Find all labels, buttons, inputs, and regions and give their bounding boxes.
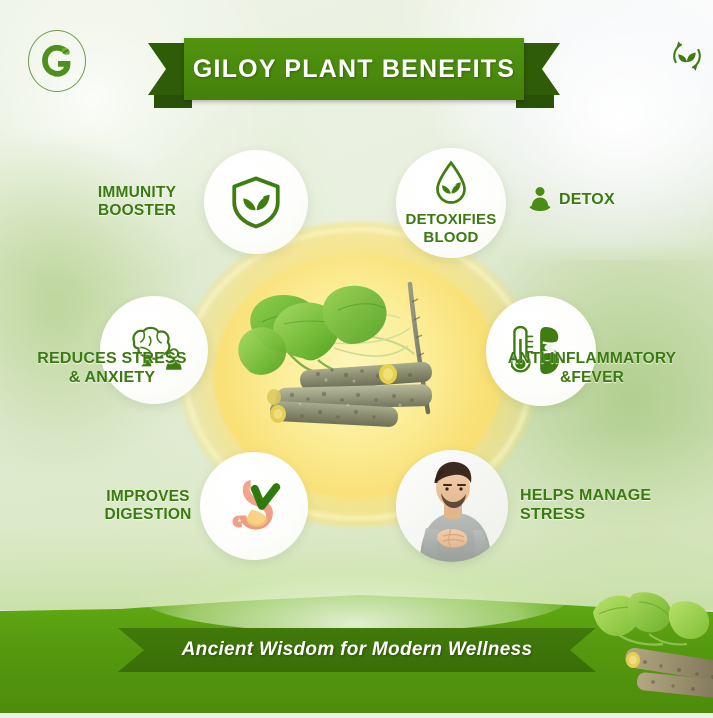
meditating-person-icon: [525, 186, 555, 215]
benefit-label-manage-stress: HELPS MANAGE STRESS: [520, 487, 660, 525]
footer-arc-highlight: [140, 561, 570, 633]
footer-plant-decoration: [589, 588, 713, 713]
benefit-improves-digestion[interactable]: IMPROVES DIGESTION: [90, 452, 308, 560]
benefit-label-immunity: IMMUNITY BOOSTER: [78, 184, 196, 221]
man-hand-on-chest-photo: [396, 450, 508, 562]
shield-leaf-icon: [227, 173, 285, 231]
benefit-label-digestion: IMPROVES DIGESTION: [90, 488, 206, 525]
footer-ribbon: Ancient Wisdom for Modern Wellness: [118, 628, 596, 672]
giloy-plant-image: [214, 262, 480, 442]
benefit-immunity-booster[interactable]: IMMUNITY BOOSTER: [78, 150, 308, 254]
ribbon-band: GILOY PLANT BENEFITS: [184, 38, 524, 100]
water-drop-leaf-icon: [427, 159, 475, 207]
page-title: GILOY PLANT BENEFITS: [193, 55, 515, 84]
benefit-label-stress: REDUCES STRESS & ANXIETY: [14, 349, 210, 387]
stomach-check-icon: [223, 475, 285, 537]
benefit-icon-circle-detoxifies-blood: DETOXIFIES BLOOD: [396, 148, 506, 258]
header-ribbon: GILOY PLANT BENEFITS: [148, 38, 560, 100]
benefit-detoxifies-blood[interactable]: DETOXIFIES BLOOD: [396, 148, 506, 258]
benefit-detox[interactable]: DETOX: [525, 186, 615, 215]
benefit-label-antiinflammatory: ANTI-INFLAMMATORY &FEVER: [480, 350, 704, 387]
footer-tagline: Ancient Wisdom for Modern Wellness: [182, 639, 533, 661]
leaf-recycle-icon: [667, 36, 707, 81]
benefit-label-detoxifies-blood: DETOXIFIES BLOOD: [406, 211, 497, 246]
benefit-icon-circle-immunity: [204, 150, 308, 254]
brand-logo[interactable]: [28, 30, 86, 92]
footer: Ancient Wisdom for Modern Wellness: [0, 595, 713, 713]
benefit-label-detox: DETOX: [559, 191, 615, 210]
logo-g-leaf-icon: [36, 40, 78, 82]
benefit-helps-manage-stress[interactable]: HELPS MANAGE STRESS: [396, 450, 696, 562]
benefit-icon-circle-digestion: [200, 452, 308, 560]
